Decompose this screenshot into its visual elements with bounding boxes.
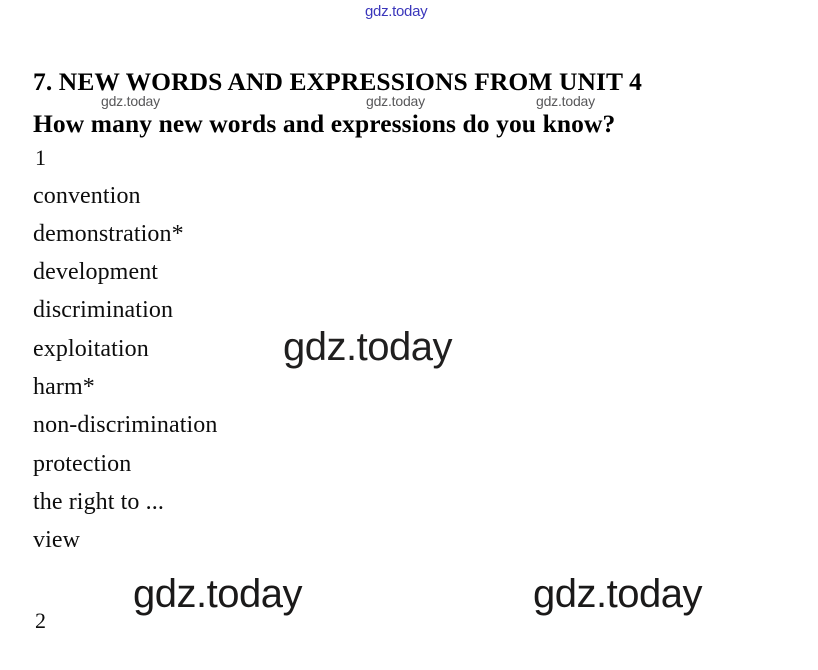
list-item: convention <box>33 183 141 210</box>
list-item: exploitation <box>33 336 149 363</box>
watermark-top-blue: gdz.today <box>365 3 427 20</box>
watermark-small-right: gdz.today <box>536 93 595 109</box>
document-page: gdz.today 7. NEW WORDS AND EXPRESSIONS F… <box>0 0 818 670</box>
list-item: view <box>33 527 80 554</box>
list-item: harm* <box>33 374 95 401</box>
list-item: the right to ... <box>33 489 164 516</box>
watermark-middle-large: gdz.today <box>283 325 452 370</box>
section-number-1: 1 <box>35 145 46 171</box>
list-item: protection <box>33 451 131 478</box>
watermark-bottom-right: gdz.today <box>533 572 702 617</box>
section-number-2: 2 <box>35 608 46 634</box>
watermark-small-middle: gdz.today <box>366 93 425 109</box>
page-subtitle-question: How many new words and expressions do yo… <box>33 109 615 139</box>
list-item: discrimination <box>33 297 173 324</box>
list-item: demonstration* <box>33 221 184 248</box>
watermark-bottom-left: gdz.today <box>133 572 302 617</box>
list-item: non-discrimination <box>33 412 217 439</box>
watermark-small-left: gdz.today <box>101 93 160 109</box>
list-item: development <box>33 259 158 286</box>
